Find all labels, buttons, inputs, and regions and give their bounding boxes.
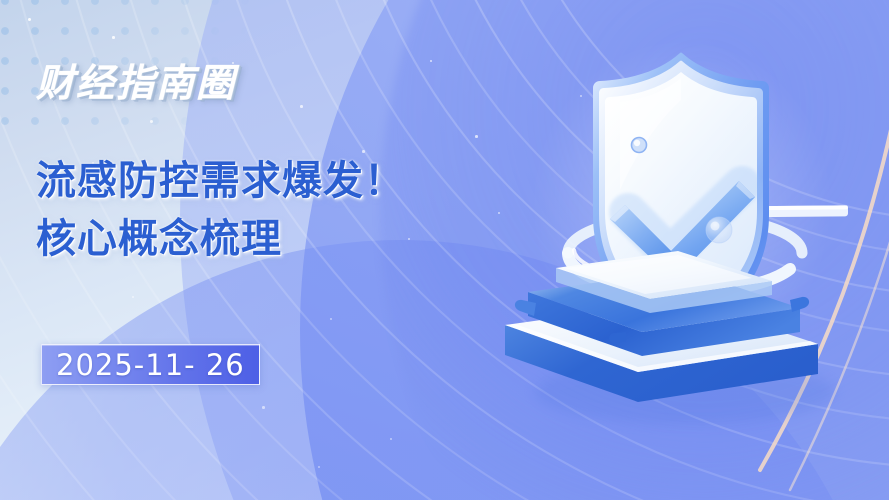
text-column: 财经指南圈 流感防控需求爆发！ 核心概念梳理 2025-11- 26 [0,0,520,500]
shield-dot-detail [632,138,647,153]
translucent-sphere [706,217,732,243]
date-badge-label: 2025-11- 26 [56,348,245,382]
brand-logo: 财经指南圈 [36,52,236,107]
date-badge: 2025-11- 26 [41,344,260,385]
illustration [470,0,889,500]
headline-line-1: 流感防控需求爆发！ [36,152,506,210]
headline-line-2: 核心概念梳理 [36,210,506,268]
promo-banner: 财经指南圈 流感防控需求爆发！ 核心概念梳理 2025-11- 26 [0,0,889,500]
headline: 流感防控需求爆发！ 核心概念梳理 [36,152,506,268]
